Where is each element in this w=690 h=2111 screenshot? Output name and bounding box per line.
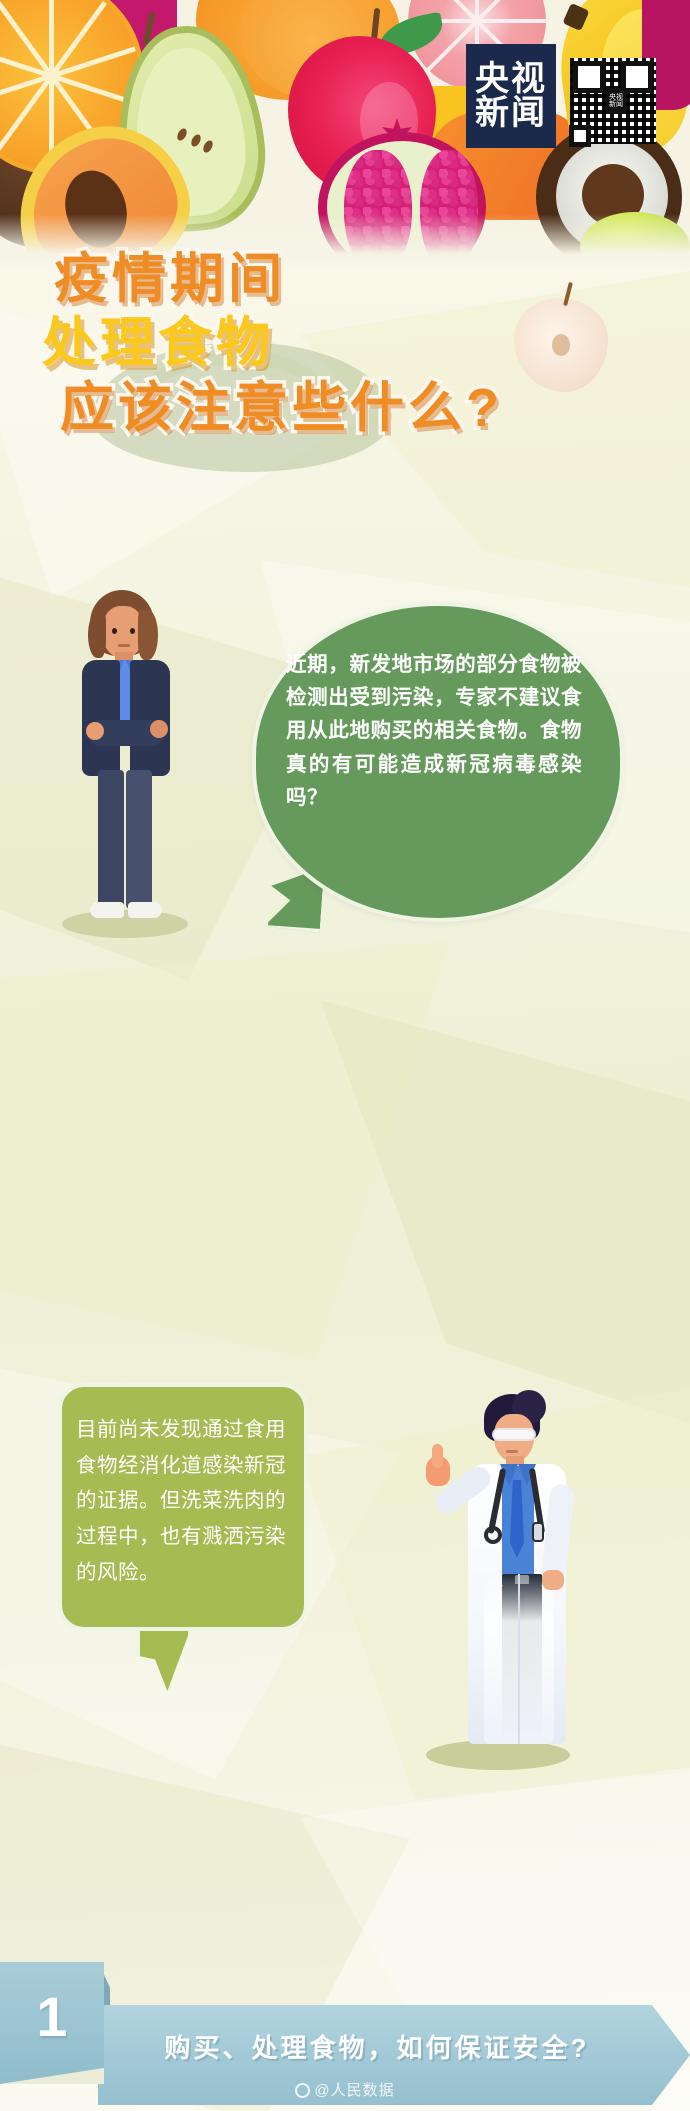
woman-trouser-left (98, 770, 124, 910)
doctor-shadow (426, 1740, 570, 1770)
doctor-coat-seam (518, 1574, 520, 1744)
section-heading: 购买、处理食物，如何保证安全? (112, 2028, 642, 2065)
woman-hand-left (86, 722, 104, 740)
woman-eye-right (130, 628, 135, 634)
cctv-logo-line2: 新闻 (475, 96, 547, 130)
doctor-glasses-icon (492, 1428, 536, 1441)
section-number: 1 (0, 1984, 104, 2049)
woman-shoe-left (90, 902, 124, 918)
weibo-logo-icon (295, 2083, 310, 2098)
doctor-character-illustration (406, 1394, 586, 1774)
title-line-3: 应该注意些什么? (34, 379, 690, 437)
woman-hair-left (88, 612, 106, 658)
cctv-news-logo: 央视 新闻 (466, 44, 556, 148)
qr-center-label: 央视新闻 (606, 88, 626, 114)
question-bubble-text: 近期，新发地市场的部分食物被检测出受到污染，专家不建议食用从此地购买的相关食物。… (286, 648, 582, 814)
cctv-logo-line1: 央视 (475, 62, 547, 96)
answer-bubble-text: 目前尚未发现通过食用食物经消化道感染新冠的证据。但洗菜洗肉的过程中，也有溅洒污染… (76, 1412, 290, 1590)
stethoscope-tip-icon (532, 1522, 544, 1542)
infographic-poster: 央视 新闻 央视新闻 疫情期间 处理食物 应该注意些什么? (0, 0, 690, 2111)
title-line-1: 疫情期间 (28, 250, 690, 308)
woman-shoe-right (128, 902, 162, 918)
doctor-mouth (506, 1450, 518, 1453)
woman-eye-left (112, 628, 117, 634)
title-line-2: 处理食物 (16, 314, 690, 372)
weibo-handle: @人民数据 (314, 2082, 394, 2099)
qr-finder-bottom-left-icon (569, 125, 591, 147)
section-number-tab: 1 (0, 1962, 104, 2084)
woman-hand-right (150, 720, 168, 738)
woman-shadow (62, 910, 188, 938)
doctor-pointing-finger-icon (432, 1444, 443, 1468)
stethoscope-bell-icon (484, 1526, 502, 1544)
woman-jacket-left (82, 660, 120, 776)
woman-mouth (118, 644, 130, 647)
woman-trouser-right (126, 770, 152, 910)
woman-hair-right (138, 610, 158, 660)
woman-jacket-right (130, 660, 170, 776)
weibo-watermark: @人民数据 (0, 2079, 690, 2100)
poster-title-block: 疫情期间 处理食物 应该注意些什么? (0, 250, 690, 437)
woman-character-illustration (60, 590, 190, 950)
doctor-hand-on-hip (542, 1570, 564, 1590)
